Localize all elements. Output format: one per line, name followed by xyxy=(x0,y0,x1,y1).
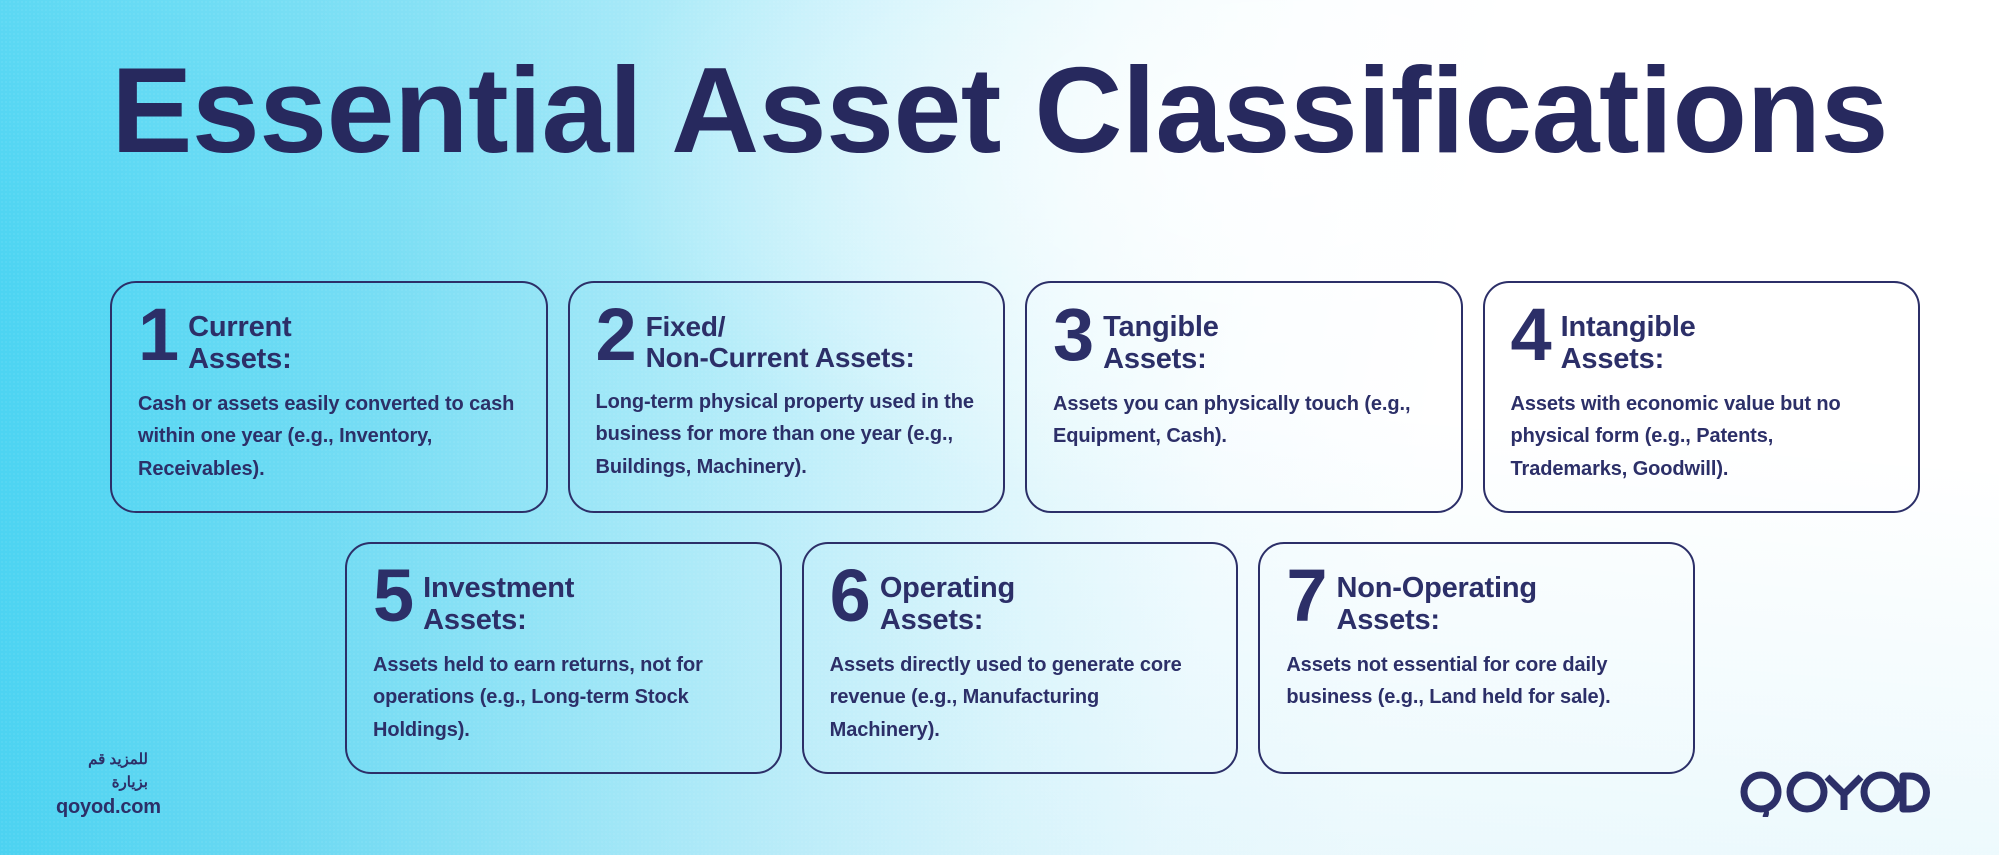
card-header: 6 Operating Assets: xyxy=(830,570,1211,637)
card-row-bottom: 5 Investment Assets: Assets held to earn… xyxy=(345,542,1695,774)
card-heading: Intangible Assets: xyxy=(1561,309,1696,376)
card-description: Cash or assets easily converted to cash … xyxy=(138,388,520,485)
card-heading: Operating Assets: xyxy=(880,570,1015,637)
asset-card-3[interactable]: 3 Tangible Assets: Assets you can physic… xyxy=(1025,281,1463,513)
card-number: 5 xyxy=(373,566,412,627)
footer-arabic-label: للمزيد قم بزيارة xyxy=(56,749,148,794)
card-description: Assets not essential for core daily busi… xyxy=(1286,649,1667,714)
footer-visit-block: للمزيد قم بزيارة qoyod.com xyxy=(56,749,161,821)
card-heading: Current Assets: xyxy=(188,309,291,376)
card-number: 7 xyxy=(1286,566,1325,627)
card-number: 2 xyxy=(596,305,635,366)
page-title: Essential Asset Classifications xyxy=(0,48,1999,172)
qoyod-logo-icon xyxy=(1737,771,1937,817)
asset-card-7[interactable]: 7 Non-Operating Assets: Assets not essen… xyxy=(1258,542,1695,774)
card-header: 1 Current Assets: xyxy=(138,309,520,376)
asset-card-5[interactable]: 5 Investment Assets: Assets held to earn… xyxy=(345,542,782,774)
footer-website-url[interactable]: qoyod.com xyxy=(56,794,161,821)
card-header: 4 Intangible Assets: xyxy=(1511,309,1893,376)
card-description: Assets directly used to generate core re… xyxy=(830,649,1211,746)
card-number: 6 xyxy=(830,566,869,627)
card-heading: Investment Assets: xyxy=(423,570,574,637)
card-header: 3 Tangible Assets: xyxy=(1053,309,1435,376)
card-number: 3 xyxy=(1053,305,1092,366)
card-header: 2 Fixed/ Non-Current Assets: xyxy=(596,309,978,374)
card-row-top: 1 Current Assets: Cash or assets easily … xyxy=(110,281,1920,513)
card-heading: Tangible Assets: xyxy=(1103,309,1218,376)
card-header: 7 Non-Operating Assets: xyxy=(1286,570,1667,637)
card-header: 5 Investment Assets: xyxy=(373,570,754,637)
asset-card-6[interactable]: 6 Operating Assets: Assets directly used… xyxy=(802,542,1239,774)
qoyod-logo xyxy=(1737,771,1937,817)
card-description: Assets with economic value but no physic… xyxy=(1511,388,1893,485)
card-heading: Non-Operating Assets: xyxy=(1337,570,1537,637)
card-heading: Fixed/ Non-Current Assets: xyxy=(646,309,915,374)
card-number: 4 xyxy=(1511,305,1550,366)
asset-card-2[interactable]: 2 Fixed/ Non-Current Assets: Long-term p… xyxy=(568,281,1006,513)
card-number: 1 xyxy=(138,305,177,366)
asset-card-4[interactable]: 4 Intangible Assets: Assets with economi… xyxy=(1483,281,1921,513)
card-description: Assets held to earn returns, not for ope… xyxy=(373,649,754,746)
card-description: Long-term physical property used in the … xyxy=(596,386,978,483)
asset-card-1[interactable]: 1 Current Assets: Cash or assets easily … xyxy=(110,281,548,513)
card-description: Assets you can physically touch (e.g., E… xyxy=(1053,388,1435,453)
